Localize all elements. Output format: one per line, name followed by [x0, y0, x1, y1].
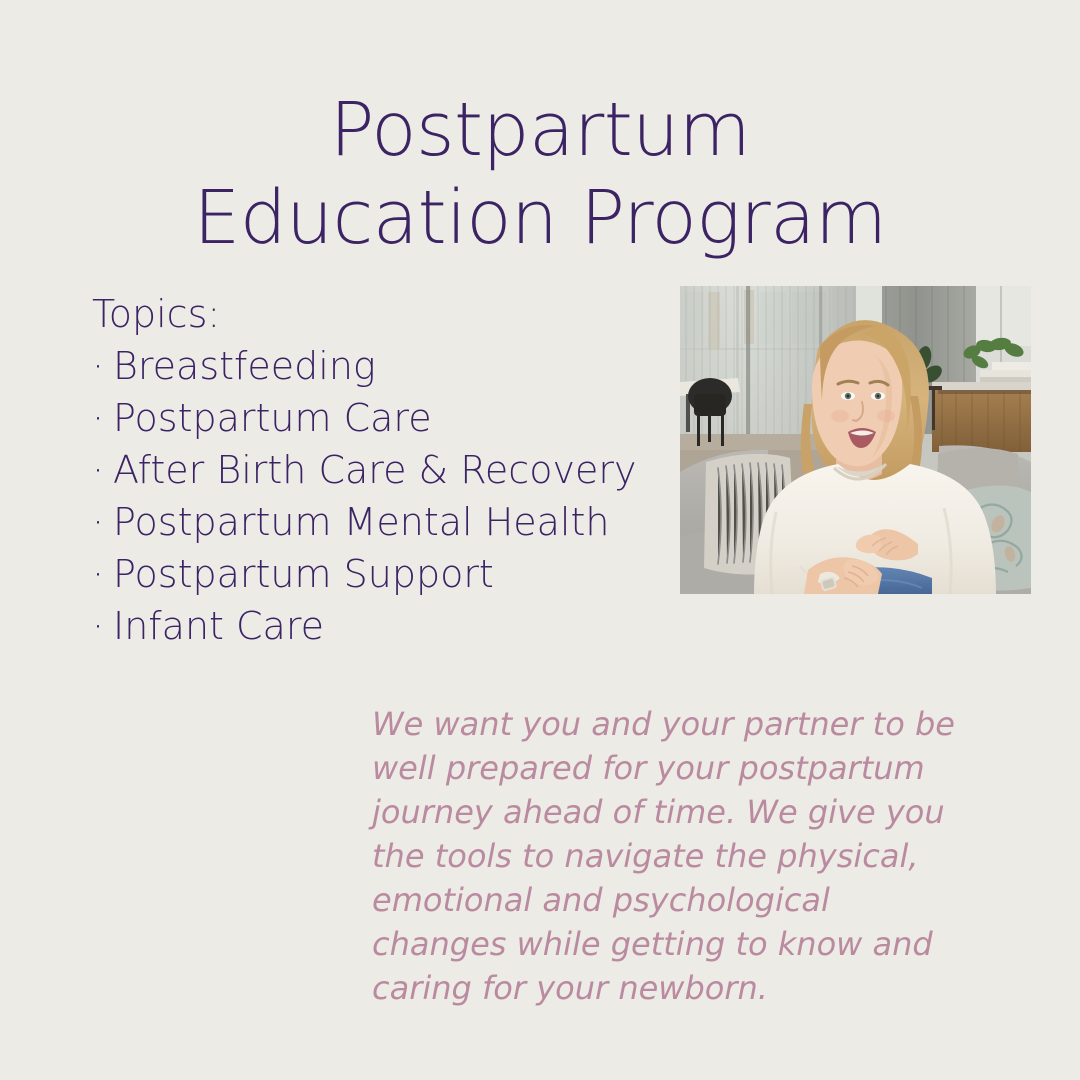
topic-item-infant-care: ·Infant Care — [92, 600, 636, 652]
bullet-icon: · — [92, 600, 113, 652]
bullet-icon: · — [92, 496, 113, 548]
topic-item-postpartum-mental-health: ·Postpartum Mental Health — [92, 496, 636, 548]
topic-item-label: Infant Care — [113, 604, 324, 648]
quote-line: journey ahead of time. We give you — [372, 790, 1002, 834]
topic-item-label: Postpartum Care — [113, 396, 432, 440]
topic-item-postpartum-support: ·Postpartum Support — [92, 548, 636, 600]
topics-heading: Topics: — [92, 288, 636, 340]
topic-item-label: After Birth Care & Recovery — [113, 448, 636, 492]
quote-line: We want you and your partner to be — [372, 702, 1002, 746]
topic-item-breastfeeding: ·Breastfeeding — [92, 340, 636, 392]
quote-line: changes while getting to know and — [372, 922, 1002, 966]
topic-item-postpartum-care: ·Postpartum Care — [92, 392, 636, 444]
page-title-line-1: Postpartum — [0, 86, 1080, 174]
quote-paragraph: We want you and your partner to be well … — [372, 702, 1002, 1010]
page-title-line-2: Education Program — [0, 174, 1080, 262]
topic-item-label: Postpartum Support — [113, 552, 494, 596]
bullet-icon: · — [92, 340, 113, 392]
bullet-icon: · — [92, 548, 113, 600]
slide-root: Postpartum Education Program Topics: ·Br… — [0, 0, 1080, 1080]
topic-item-label: Breastfeeding — [113, 344, 376, 388]
quote-line: well prepared for your postpartum — [372, 746, 1002, 790]
bullet-icon: · — [92, 444, 113, 496]
topics-block: Topics: ·Breastfeeding ·Postpartum Care … — [92, 288, 636, 652]
presenter-photo — [680, 286, 1031, 594]
quote-line: caring for your newborn. — [372, 966, 1002, 1010]
bullet-icon: · — [92, 392, 113, 444]
topic-item-label: Postpartum Mental Health — [113, 500, 609, 544]
page-title: Postpartum Education Program — [0, 86, 1080, 262]
topic-item-after-birth-care-recovery: ·After Birth Care & Recovery — [92, 444, 636, 496]
quote-line: emotional and psychological — [372, 878, 1002, 922]
quote-line: the tools to navigate the physical, — [372, 834, 1002, 878]
